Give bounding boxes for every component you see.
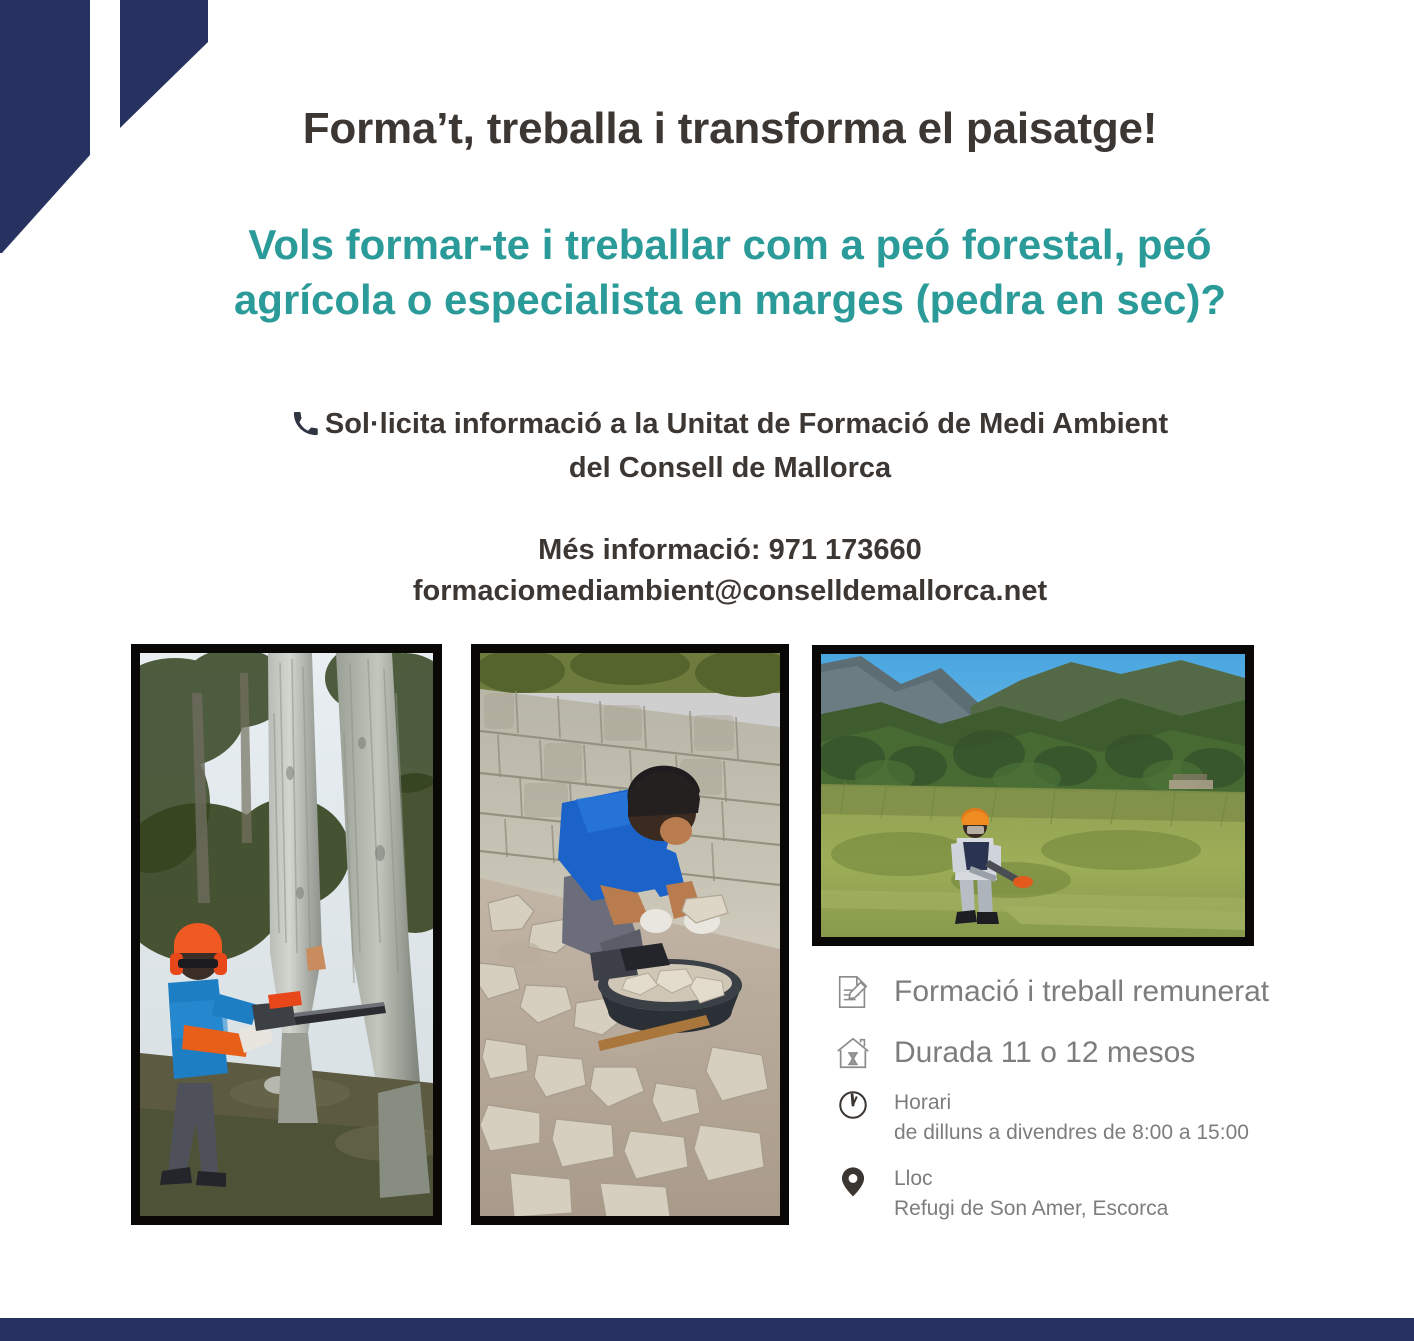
info-item-schedule-value: de dilluns a divendres de 8:00 a 15:00	[894, 1121, 1249, 1144]
page-title: Forma’t, treballa i transforma el paisat…	[180, 104, 1280, 155]
photo-meadow-landscape	[812, 645, 1254, 946]
contact-block: Sol·licita informació a la Unitat de For…	[200, 404, 1260, 612]
document-pencil-icon	[830, 973, 876, 1011]
info-item-schedule-text: Horari de dilluns a divendres de 8:00 a …	[876, 1088, 1300, 1148]
contact-email[interactable]: formaciomediambient@conselldemallorca.ne…	[413, 575, 1047, 607]
info-item-training: Formació i treball remunerat	[830, 962, 1300, 1022]
telephone-icon	[292, 408, 319, 448]
info-item-place-text: Lloc Refugi de Son Amer, Escorca	[876, 1164, 1300, 1224]
info-item-schedule: Horari de dilluns a divendres de 8:00 a …	[830, 1084, 1300, 1160]
contact-request: Sol·licita informació a la Unitat de For…	[200, 404, 1260, 488]
map-pin-icon	[830, 1164, 876, 1198]
contact-details: Més informació: 971 173660 formaciomedia…	[200, 488, 1260, 612]
photo-dry-stone-wall	[471, 644, 789, 1225]
info-item-place-value: Refugi de Son Amer, Escorca	[894, 1197, 1168, 1220]
contact-phone-number: Més informació: 971 173660	[538, 534, 922, 566]
subtitle-line-2: agrícola o especialista en marges (pedra…	[180, 272, 1280, 327]
info-item-place: Lloc Refugi de Son Amer, Escorca	[830, 1160, 1300, 1234]
house-hourglass-icon	[830, 1034, 876, 1072]
contact-request-line-2: del Consell de Mallorca	[569, 452, 891, 484]
info-item-place-label: Lloc	[894, 1167, 933, 1190]
info-item-duration: Durada 11 o 12 mesos	[830, 1022, 1300, 1084]
quote-mark-left-shape	[0, 0, 90, 253]
clock-icon	[830, 1088, 876, 1122]
info-item-schedule-label: Horari	[894, 1091, 951, 1114]
headline-block: Forma’t, treballa i transforma el paisat…	[180, 104, 1280, 327]
info-item-duration-label: Durada 11 o 12 mesos	[876, 1038, 1300, 1068]
subtitle-line-1: Vols formar-te i treballar com a peó for…	[180, 217, 1280, 272]
photo-forestry-worker	[131, 644, 442, 1225]
contact-request-line-1: Sol·licita informació a la Unitat de For…	[325, 408, 1168, 440]
info-item-training-label: Formació i treball remunerat	[876, 977, 1300, 1007]
info-list: Formació i treball remunerat Durada 11 o…	[830, 962, 1300, 1234]
footer-bar	[0, 1318, 1414, 1341]
page-subtitle: Vols formar-te i treballar com a peó for…	[180, 155, 1280, 328]
